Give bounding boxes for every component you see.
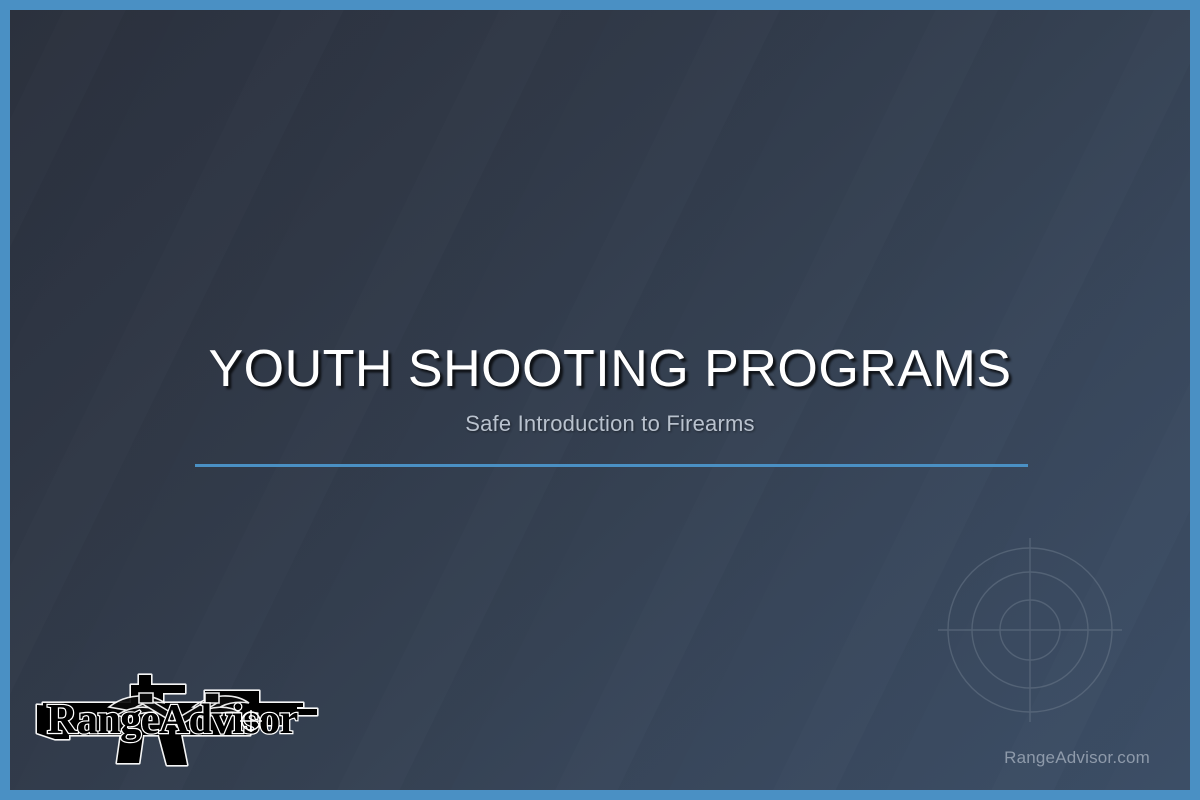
page-title: YOUTH SHOOTING PROGRAMS bbox=[10, 342, 1190, 397]
brand-logo: RangeAdvisor RangeAdvisor bbox=[35, 663, 320, 768]
footer-url: RangeAdvisor.com bbox=[1004, 748, 1150, 768]
title-block: YOUTH SHOOTING PROGRAMS Safe Introductio… bbox=[10, 342, 1190, 437]
slide-canvas: YOUTH SHOOTING PROGRAMS Safe Introductio… bbox=[10, 10, 1190, 790]
crosshair-target-icon bbox=[930, 530, 1130, 730]
presentation-slide: YOUTH SHOOTING PROGRAMS Safe Introductio… bbox=[0, 0, 1200, 800]
page-subtitle: Safe Introduction to Firearms bbox=[10, 411, 1190, 437]
title-divider bbox=[195, 464, 1028, 467]
